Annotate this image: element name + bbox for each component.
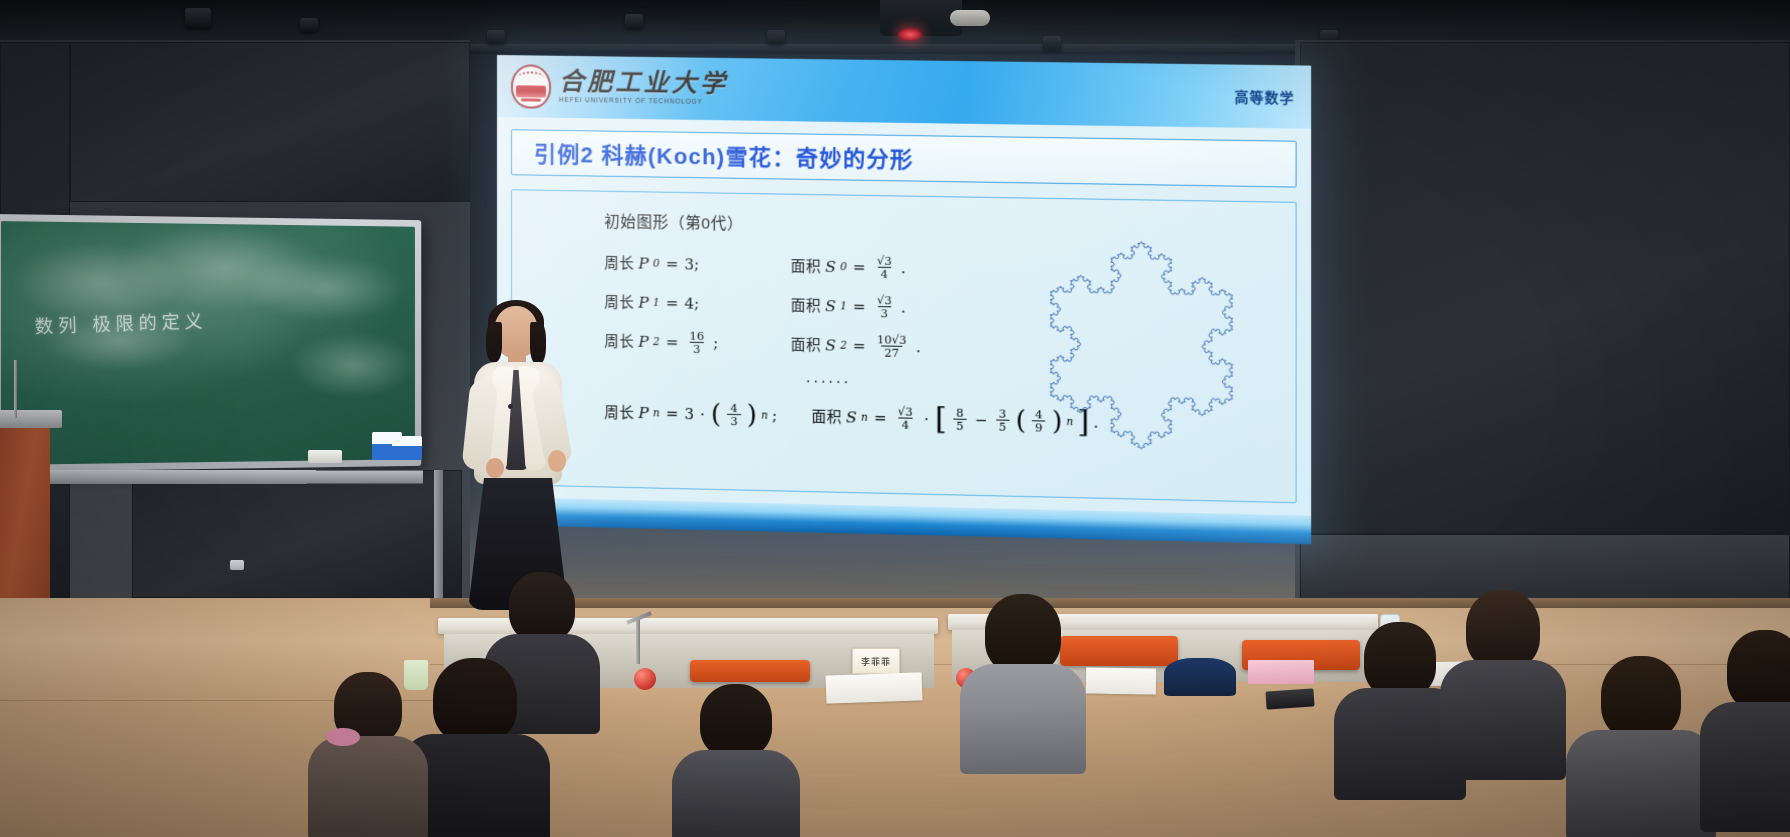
perimeter-var: P	[638, 293, 648, 311]
microphone-stand	[14, 360, 17, 418]
perimeter-sub: 0	[653, 257, 660, 269]
wall-panel	[1300, 42, 1790, 534]
perimeter-label: 周长	[604, 402, 634, 424]
area-numerator: √3	[874, 255, 895, 268]
student-head	[433, 658, 517, 744]
ratio-numerator: 4	[727, 402, 740, 414]
area-period: .	[901, 298, 906, 316]
minus-sign: −	[973, 411, 990, 430]
ceiling-fixture	[767, 30, 785, 44]
projection-screen: 合肥工业大学 HEFEI UNIVERSITY OF TECHNOLOGY 高等…	[497, 55, 1311, 544]
university-seal-icon	[511, 64, 551, 109]
area-period: .	[901, 259, 906, 277]
area-sub: 2	[840, 339, 847, 351]
baseball-cap	[1164, 658, 1236, 696]
perimeter-var: P	[638, 404, 648, 422]
pink-notepad	[1248, 660, 1314, 684]
student-torso	[1700, 702, 1790, 832]
blackboard-surface: 数列 极限的定义	[1, 221, 415, 465]
multiply-dot: ·	[698, 405, 707, 423]
lecturer-hair-side	[530, 322, 546, 364]
blackboard: 数列 极限的定义	[0, 214, 421, 472]
perimeter-coefficient: 3	[684, 405, 694, 423]
microphone-stand	[636, 618, 640, 664]
slide-title-box: 引例2 科赫(Koch)雪花：奇妙的分形	[511, 129, 1297, 187]
coef-denominator: 4	[899, 418, 913, 431]
university-name-cn: 合肥工业大学	[559, 69, 728, 96]
area-label: 面积	[791, 295, 821, 317]
area-sub: n	[861, 412, 868, 424]
area-fraction: √3 3	[874, 294, 895, 320]
perimeter-row-2: 周长 P2 = 16 3 ;	[604, 328, 791, 357]
general-perimeter-formula: 周长 Pn = 3 · ( 4 3 )n ;	[604, 400, 777, 429]
perimeter-sub: 1	[653, 297, 660, 309]
lecturer-hair-side	[486, 322, 502, 362]
perimeter-value: 3;	[684, 255, 699, 273]
perimeter-exponent: n	[761, 409, 768, 421]
student	[960, 594, 1086, 772]
apple	[634, 668, 656, 690]
slide-subject-label: 高等数学	[1235, 86, 1295, 107]
student	[1566, 656, 1716, 837]
student-name-card: 李菲菲	[852, 648, 900, 674]
student-torso	[960, 664, 1086, 774]
perimeter-ratio-fraction: 4 3	[727, 402, 740, 428]
perimeter-denominator: 3	[690, 342, 703, 355]
perimeter-value: 4;	[684, 294, 699, 312]
wall-panel	[132, 470, 462, 598]
multiply-dot: ·	[922, 410, 931, 428]
wall-panel	[70, 42, 470, 202]
lecture-hall-photo: 合肥工业大学 HEFEI UNIVERSITY OF TECHNOLOGY 高等…	[0, 0, 1790, 837]
perimeter-semicolon: ;	[772, 407, 777, 425]
area-numerator: √3	[874, 294, 895, 307]
student-head	[1466, 590, 1540, 670]
area-var: S	[825, 336, 836, 354]
smartphone[interactable]	[1265, 688, 1314, 709]
student-head	[700, 684, 772, 758]
student-head	[985, 594, 1061, 674]
projector-indicator-light	[898, 28, 922, 41]
ceiling-fixture	[487, 30, 505, 44]
area-sub: 0	[840, 261, 847, 273]
student-chair[interactable]	[690, 660, 810, 682]
perimeter-sub: n	[653, 407, 660, 419]
area-sub: 1	[840, 300, 847, 312]
area-label: 面积	[791, 334, 821, 356]
paper-sheet	[1086, 667, 1156, 694]
area-denominator: 4	[878, 267, 892, 280]
student-torso	[308, 736, 428, 837]
ceiling-fixture	[185, 8, 211, 28]
perimeter-var: P	[638, 254, 648, 272]
perimeter-label: 周长	[604, 291, 634, 313]
paper-sheet	[826, 672, 923, 703]
ceiling-fixture	[1043, 36, 1061, 50]
ceiling-fixture	[625, 14, 643, 28]
area-var: S	[825, 297, 836, 315]
ceiling-fixture	[300, 18, 318, 32]
lecturer-lapel-mic-icon	[508, 404, 513, 409]
equals-sign: =	[664, 404, 681, 422]
area-denominator: 3	[878, 306, 892, 319]
university-logo: 合肥工业大学 HEFEI UNIVERSITY OF TECHNOLOGY	[511, 64, 728, 111]
student-head	[1364, 622, 1436, 698]
slide-title: 引例2 科赫(Koch)雪花：奇妙的分形	[534, 137, 914, 175]
slide-header: 合肥工业大学 HEFEI UNIVERSITY OF TECHNOLOGY 高等…	[497, 55, 1311, 129]
coef-numerator: √3	[895, 406, 916, 419]
chalk-tray	[0, 470, 423, 484]
area-var: S	[846, 408, 857, 426]
podium-top	[0, 410, 62, 428]
area-coefficient-fraction: √3 4	[895, 406, 916, 432]
area-var: S	[825, 257, 836, 275]
student-head	[509, 572, 575, 642]
student-torso	[672, 750, 800, 837]
student	[672, 684, 800, 837]
koch-snowflake-path	[1050, 240, 1232, 451]
student	[1700, 630, 1790, 830]
term-a-numerator: 8	[953, 407, 967, 419]
area-period: .	[916, 338, 921, 356]
perimeter-fraction: 16 3	[686, 330, 707, 356]
ratio-denominator: 3	[727, 414, 740, 427]
area-label: 面积	[791, 255, 821, 277]
slide-content-box: 初始图形（第0代） 周长 P0 = 3; 面积 S0 =	[511, 189, 1297, 503]
blackboard-eraser[interactable]	[308, 450, 342, 463]
lecturer-hand-right	[548, 450, 566, 472]
student-head	[1727, 630, 1790, 712]
koch-snowflake-figure	[1000, 204, 1283, 473]
hair-accessory	[326, 728, 360, 746]
area-label: 面积	[812, 406, 842, 428]
slide-body: 引例2 科赫(Koch)雪花：奇妙的分形 初始图形（第0代） 周长 P0 = 3…	[497, 117, 1311, 516]
area-term-a-fraction: 8 5	[953, 407, 967, 433]
equals-sign: =	[872, 409, 889, 428]
student-head	[1601, 656, 1681, 740]
perimeter-var: P	[638, 333, 648, 351]
ceiling-speaker	[950, 10, 990, 26]
university-name-en: HEFEI UNIVERSITY OF TECHNOLOGY	[559, 98, 728, 107]
perimeter-row-1: 周长 P1 = 4;	[604, 289, 791, 318]
perimeter-semicolon: ;	[713, 334, 718, 352]
perimeter-numerator: 16	[686, 330, 707, 343]
area-fraction: √3 4	[874, 255, 895, 281]
lecturer-hand-left	[486, 458, 504, 478]
perimeter-label: 周长	[604, 252, 634, 274]
wall-switch-plate[interactable]	[230, 560, 244, 570]
stage-edge	[430, 598, 1790, 608]
area-denominator: 27	[881, 346, 902, 360]
slide-surface: 合肥工业大学 HEFEI UNIVERSITY OF TECHNOLOGY 高等…	[497, 55, 1311, 544]
blackboard-leg	[434, 470, 443, 612]
perimeter-label: 周长	[604, 330, 634, 352]
close-paren: )	[747, 406, 757, 425]
student-torso	[1440, 660, 1566, 780]
term-a-denominator: 5	[953, 419, 967, 432]
student	[308, 672, 428, 837]
lecturer	[452, 300, 580, 612]
open-paren: (	[711, 405, 721, 423]
area-fraction: 10√3 27	[874, 333, 910, 359]
area-numerator: 10√3	[874, 333, 910, 346]
marker-box[interactable]	[392, 436, 422, 460]
student	[1440, 590, 1566, 778]
student-torso	[1566, 730, 1716, 837]
perimeter-row-0: 周长 P0 = 3;	[604, 250, 791, 279]
open-bracket: [	[935, 409, 947, 430]
perimeter-sub: 2	[653, 336, 660, 348]
